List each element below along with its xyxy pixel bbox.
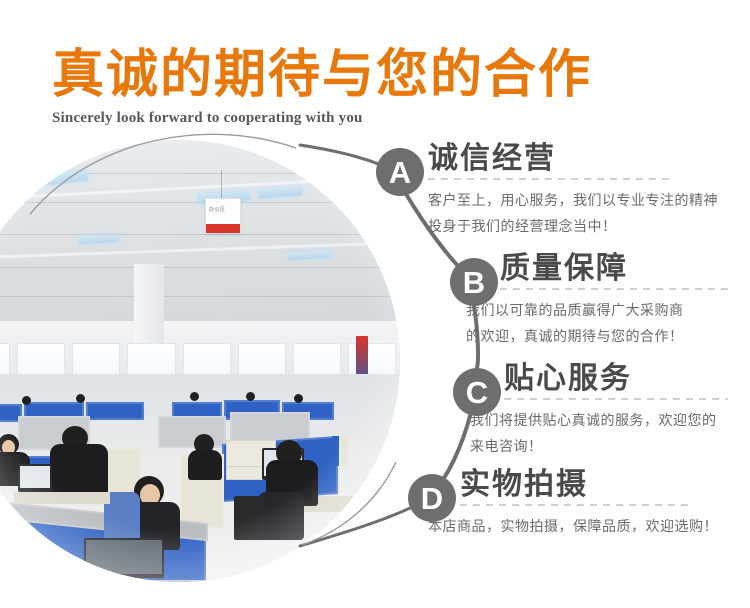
cubicle-top <box>158 416 226 448</box>
feature-body-d: 本店商品，实物拍摄，保障品质，欢迎选购！ <box>428 515 750 541</box>
printer-stand <box>146 580 242 582</box>
person <box>294 394 303 403</box>
cubicle-panel <box>86 402 144 420</box>
feature-body-a: 客户至上，用心服务，我们以专业专注的精神 投身于我们的经营理念当中！ <box>428 189 728 241</box>
monitor <box>84 538 164 578</box>
person <box>246 392 255 401</box>
hanging-sign: 办公区 <box>205 198 241 234</box>
desk <box>14 492 110 504</box>
computer-tower <box>234 496 264 540</box>
feature-heading-b: 质量保障 <box>500 252 750 285</box>
monitor <box>18 464 52 492</box>
badge-a: A <box>376 148 424 196</box>
header: 真诚的期待与您的合作 Sincerely look forward to coo… <box>52 48 712 127</box>
feature-item-d: 实物拍摄 本店商品，实物拍摄，保障品质，欢迎选购！ <box>460 468 750 541</box>
ceiling <box>0 140 400 321</box>
person <box>76 394 85 403</box>
feature-body-line: 我们将提供贴心真诚的服务，欢迎您的 <box>470 409 750 435</box>
page-subtitle: Sincerely look forward to cooperating wi… <box>52 110 712 127</box>
person <box>190 392 199 401</box>
binder <box>332 436 339 466</box>
person <box>188 450 222 480</box>
feature-body-line: 来电咨询！ <box>470 435 750 461</box>
hanging-sign-label: 办公区 <box>209 206 226 213</box>
feature-body-line: 本店商品，实物拍摄，保障品质，欢迎选购！ <box>428 515 750 541</box>
heading-underline <box>460 504 688 506</box>
office-photo-scene: 办公区 <box>0 140 400 582</box>
office-chair <box>258 492 304 540</box>
feature-body-line: 投身于我们的经营理念当中！ <box>428 215 728 241</box>
feature-heading-d: 实物拍摄 <box>460 468 750 501</box>
feature-body-b: 我们以可靠的品质赢得广大采购商 的欢迎，真诚的期待与您的合作！ <box>466 299 750 351</box>
heading-underline <box>504 398 728 400</box>
page-title: 真诚的期待与您的合作 <box>52 48 712 103</box>
feature-body-line: 我们以可靠的品质赢得广大采购商 <box>466 299 750 325</box>
heading-underline <box>428 178 672 180</box>
feature-heading-c: 贴心服务 <box>504 362 750 395</box>
promo-banner: 真诚的期待与您的合作 Sincerely look forward to coo… <box>0 0 750 608</box>
heading-underline <box>500 288 728 290</box>
binder <box>341 436 348 466</box>
feature-heading-a: 诚信经营 <box>428 142 728 175</box>
sign-wire <box>221 170 222 200</box>
feature-item-a: 诚信经营 客户至上，用心服务，我们以专业专注的精神 投身于我们的经营理念当中！ <box>428 142 728 241</box>
feature-body-line: 的欢迎，真诚的期待与您的合作！ <box>466 325 750 351</box>
feature-body-c: 我们将提供贴心真诚的服务，欢迎您的 来电咨询！ <box>470 409 750 461</box>
feature-item-c: 贴心服务 我们将提供贴心真诚的服务，欢迎您的 来电咨询！ <box>504 362 750 461</box>
feature-body-line: 客户至上，用心服务，我们以专业专注的精神 <box>428 189 728 215</box>
feature-item-b: 质量保障 我们以可靠的品质赢得广大采购商 的欢迎，真诚的期待与您的合作！ <box>500 252 750 351</box>
person <box>22 396 31 405</box>
office-photo: 办公区 <box>0 140 400 582</box>
